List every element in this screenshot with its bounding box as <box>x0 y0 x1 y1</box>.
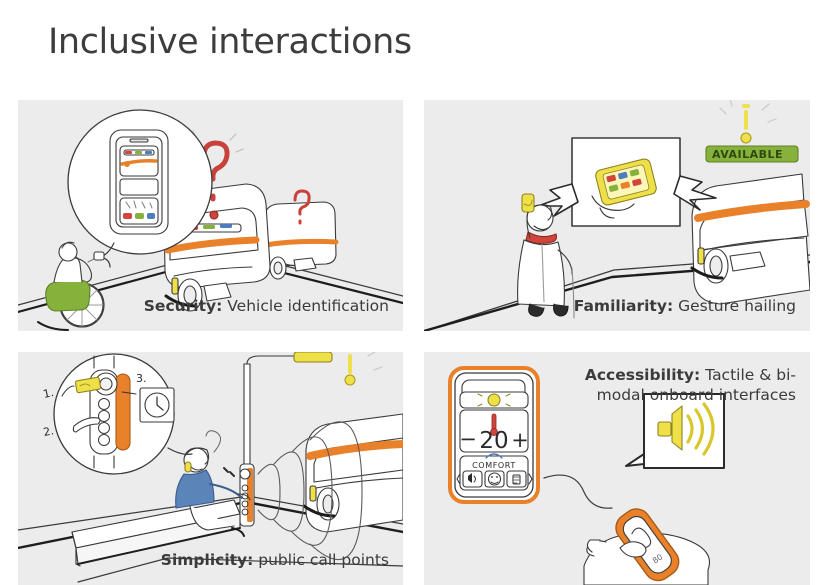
svg-text:AVAILABLE: AVAILABLE <box>712 148 783 161</box>
caption-security-rest: Vehicle identification <box>222 297 389 315</box>
caption-simplicity-rest: public call points <box>253 551 389 569</box>
caption-simplicity-strong: Simplicity: <box>161 551 254 569</box>
caption-security-strong: Security: <box>144 297 223 315</box>
temperature-value: 20 <box>479 428 508 454</box>
caption-accessibility-strong: Accessibility: <box>585 366 700 384</box>
svg-text:1.: 1. <box>42 386 55 401</box>
caption-familiarity-strong: Familiarity: <box>574 297 673 315</box>
caption-accessibility: Accessibility: Tactile & bi-modal onboar… <box>546 366 796 406</box>
minus-glyph: − <box>459 427 477 451</box>
svg-text:2.: 2. <box>42 424 55 439</box>
public-call-point-sketch: 1. 2. <box>18 352 403 585</box>
svg-text:3.: 3. <box>136 372 147 385</box>
slide-canvas: Inclusive interactions <box>0 0 829 585</box>
caption-simplicity: Simplicity: public call points <box>161 551 389 571</box>
panel-security[interactable]: Security: Vehicle identification <box>18 100 403 331</box>
panel-familiarity[interactable]: AVAILABLE <box>424 100 810 331</box>
comfort-label: COMFORT <box>472 461 516 470</box>
caption-familiarity-rest: Gesture hailing <box>673 297 796 315</box>
plus-glyph: + <box>511 428 529 452</box>
page-title: Inclusive interactions <box>48 22 412 62</box>
caption-familiarity: Familiarity: Gesture hailing <box>574 297 796 317</box>
caption-security: Security: Vehicle identification <box>144 297 389 317</box>
panel-accessibility[interactable]: 20 − + COMFORT <box>424 352 810 585</box>
panel-simplicity[interactable]: 1. 2. <box>18 352 403 585</box>
